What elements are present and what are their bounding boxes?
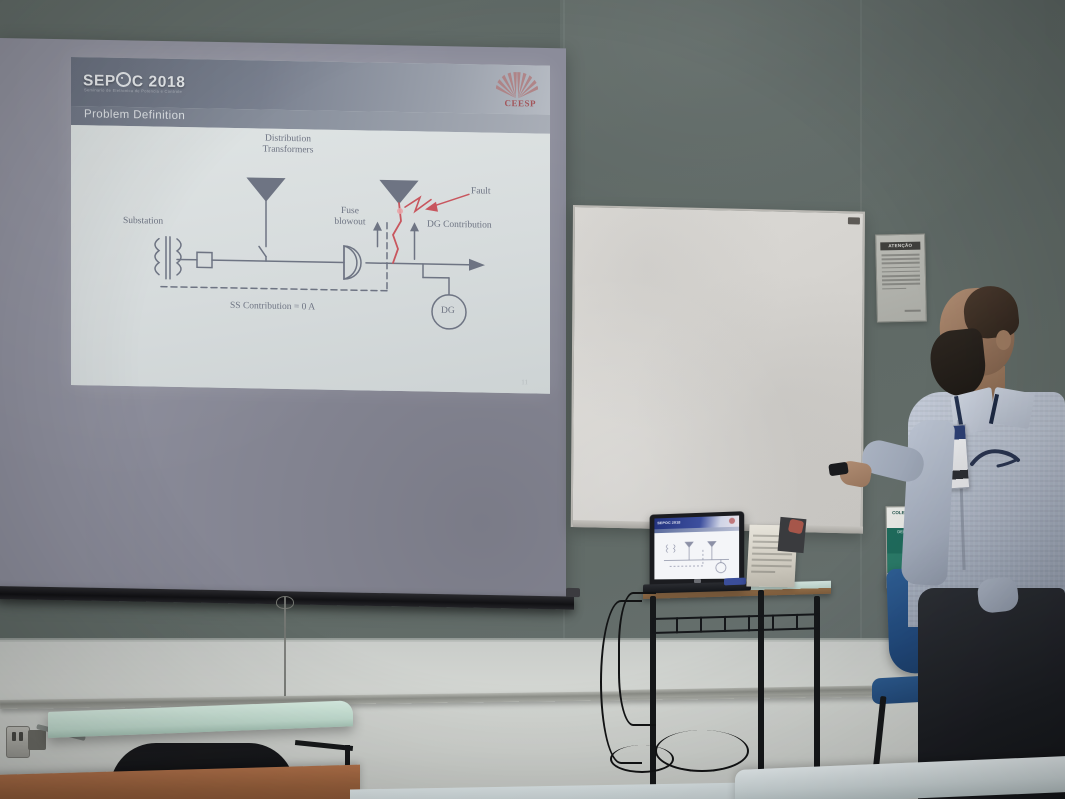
projected-slide: SEPC 2018 Seminario de Eletronica de Pot… [71, 57, 550, 394]
diagram-label-ss-contribution: SS Contribution = 0 A [230, 301, 315, 314]
diagram-label-fault: Fault [471, 186, 491, 197]
poster-header-text: ATENÇÃO [880, 242, 920, 251]
laptop[interactable]: SEPOC 2018 [650, 511, 745, 588]
laptop-screen: SEPOC 2018 [654, 515, 739, 579]
distribution-feeder-diagram [71, 125, 550, 394]
diagram-label-dg: DG [441, 306, 455, 317]
poster-signature-line [905, 310, 921, 312]
notice-poster: ATENÇÃO [875, 233, 927, 322]
desk-frame [295, 743, 357, 765]
slide-page-number: 11 [521, 378, 528, 386]
projection-screen-end-cap [566, 588, 580, 597]
floor-cable-loop [610, 745, 674, 773]
slide-diagram-canvas: Distribution Transformers Substation Fus… [71, 125, 550, 394]
poster-body-text [882, 254, 921, 292]
slide-section-title: Problem Definition [84, 108, 185, 122]
ceesp-logo-text: CEESP [504, 98, 536, 109]
wall-junction-box [28, 730, 46, 750]
laptop-slide-body [654, 531, 739, 580]
whiteboard-corner-clip-icon [848, 217, 860, 224]
wall-power-outlet [6, 726, 30, 758]
shirt-chest-logo-icon [968, 444, 1024, 472]
whiteboard-surface [573, 207, 863, 531]
whiteboard [571, 205, 865, 534]
presenter-ear [996, 330, 1011, 350]
diagram-label-fuse-blowout: Fuse blowout [324, 206, 376, 229]
laptop-slide-title: SEPOC 2018 [657, 520, 680, 526]
laptop-mini-diagram [654, 531, 739, 580]
presenter-arm [901, 419, 956, 586]
poster-header-bar: ATENÇÃO [880, 242, 920, 251]
blue-desk-object [724, 578, 746, 586]
diagram-label-substation: Substation [123, 216, 163, 228]
sepoc-logo-ring-icon [116, 72, 131, 87]
laptop-brand-logo-icon [694, 579, 701, 583]
diagram-label-dg-contribution: DG Contribution [427, 220, 492, 232]
diagram-label-dist-transformers: Distribution Transformers [243, 133, 333, 157]
power-cable [600, 600, 642, 764]
presentation-room-photo: SEPC 2018 Seminario de Eletronica de Pot… [0, 0, 1065, 799]
red-object [788, 519, 804, 535]
laptop-slide-logo-icon [729, 518, 735, 524]
ceesp-sunburst-logo-icon [496, 69, 538, 102]
